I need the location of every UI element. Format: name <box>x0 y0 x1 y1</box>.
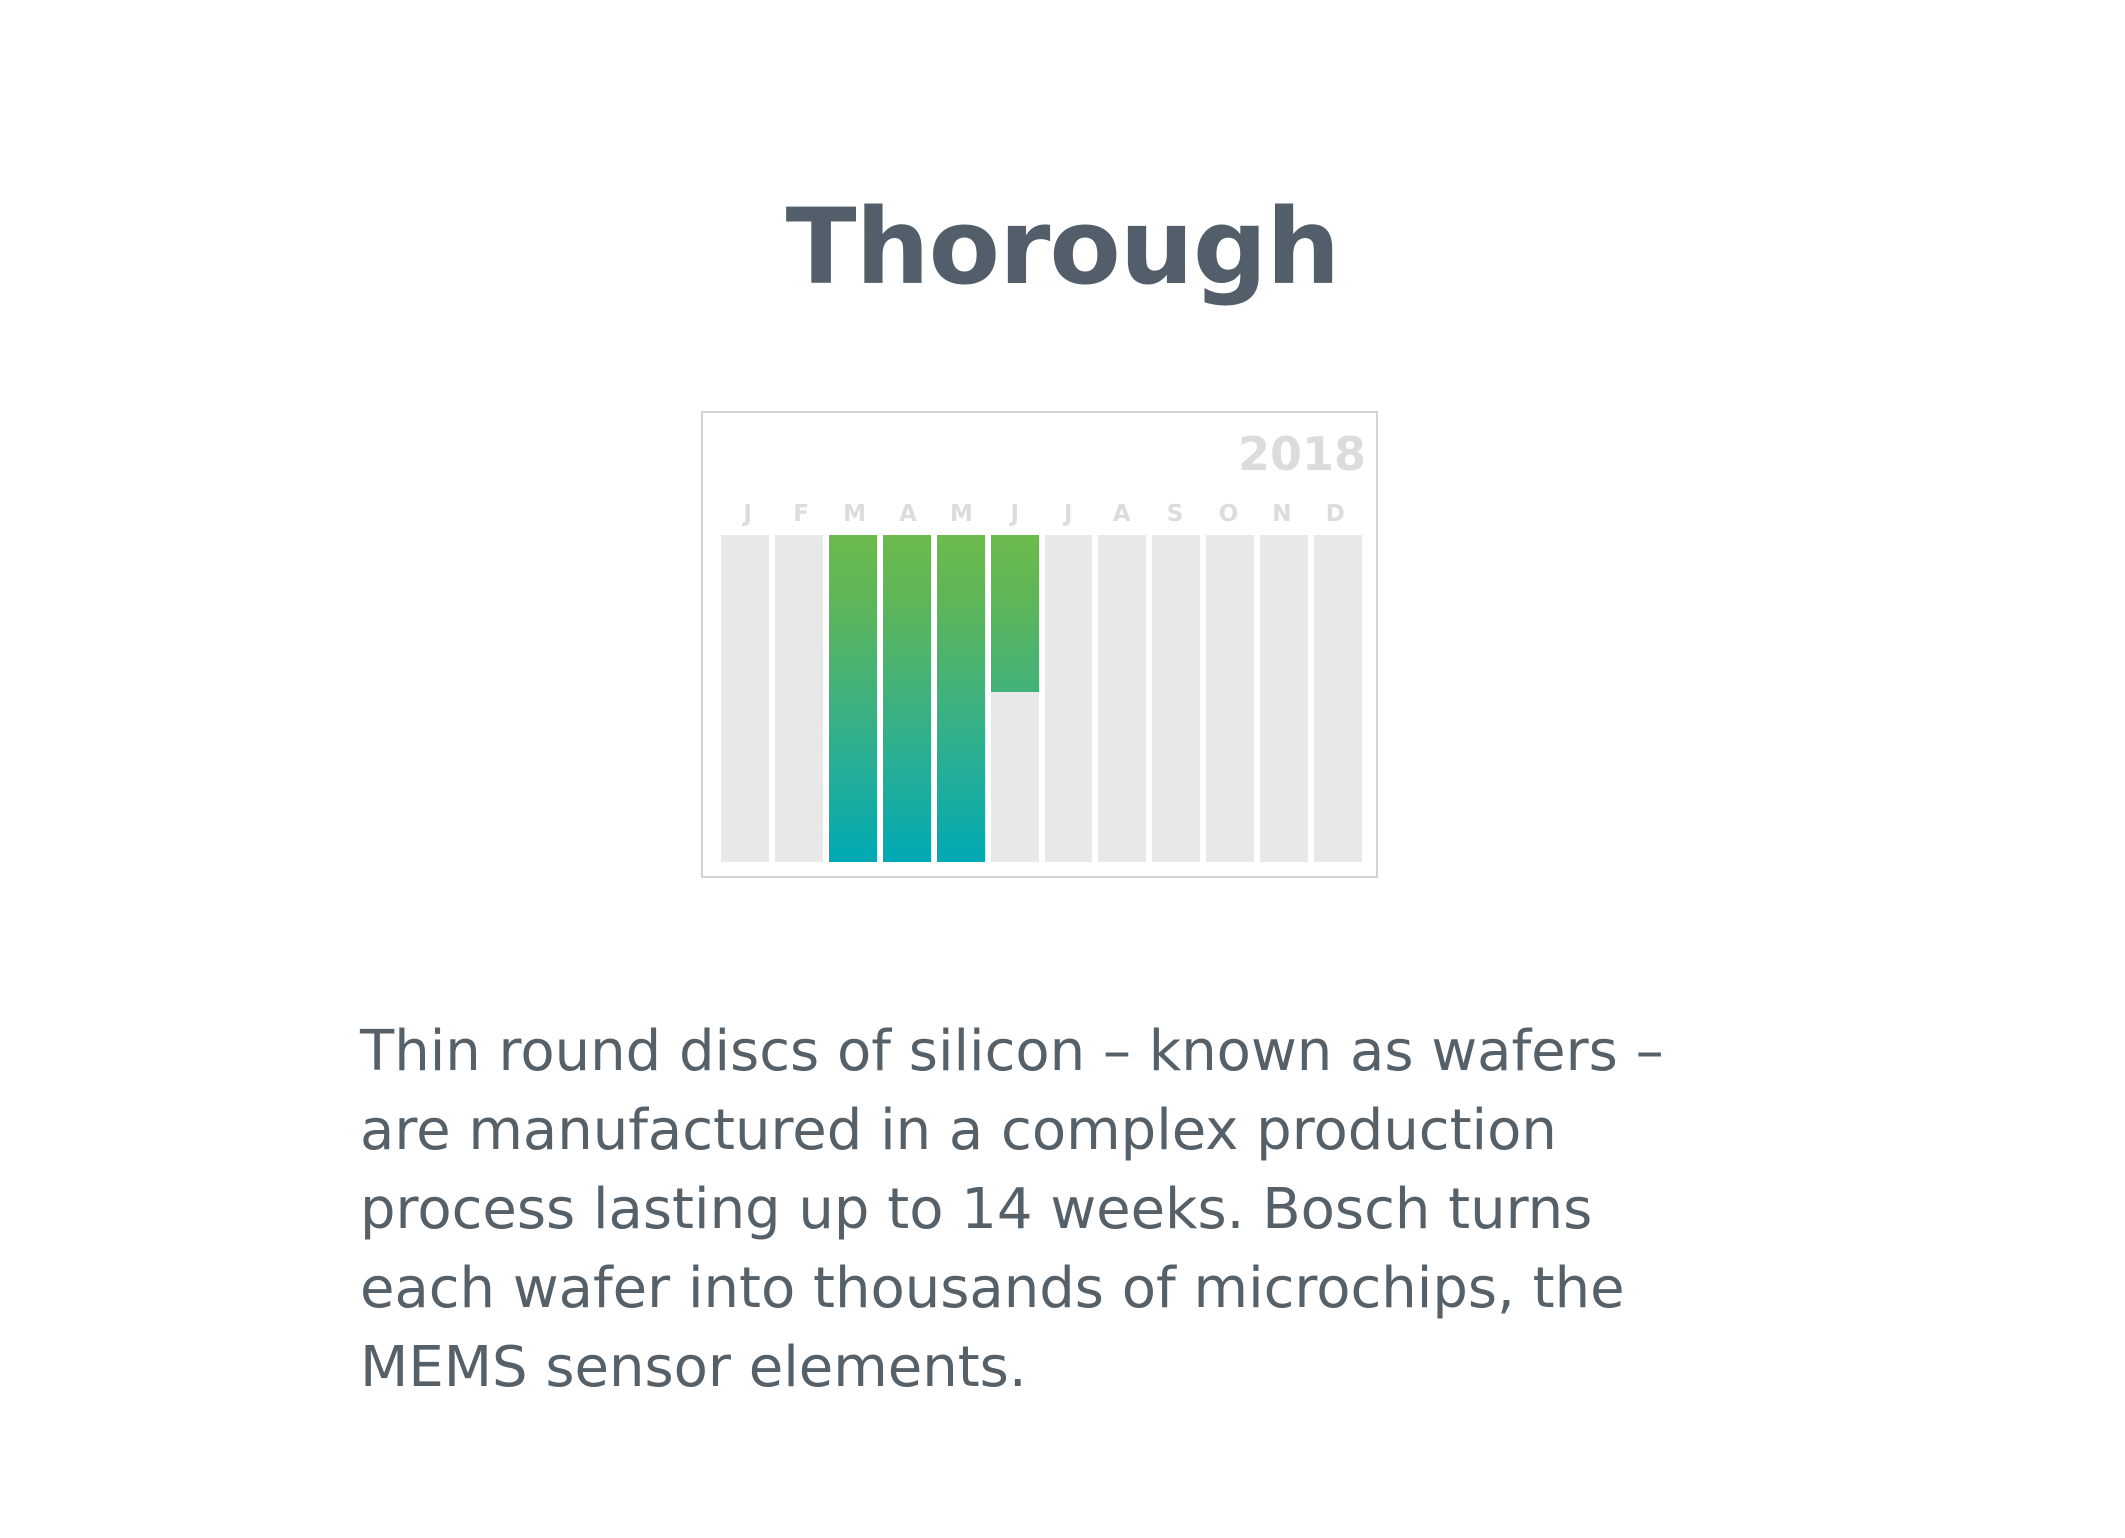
bar-fill <box>829 535 877 862</box>
chart-year-label: 2018 <box>1238 431 1366 477</box>
month-label-aug: A <box>1095 503 1148 526</box>
month-label-may: M <box>935 503 988 526</box>
bar-track <box>1098 535 1146 862</box>
bar-fill <box>991 535 1039 692</box>
bar-track <box>775 535 823 862</box>
month-label-jan: J <box>721 503 774 526</box>
bar-track <box>1152 535 1200 862</box>
month-label-dec: D <box>1309 503 1362 526</box>
month-label-oct: O <box>1202 503 1255 526</box>
body-line: MEMS sensor elements. <box>360 1328 1860 1407</box>
bar-track <box>1206 535 1254 862</box>
bar-track <box>721 535 769 862</box>
month-label-jul: J <box>1042 503 1095 526</box>
bar-fill <box>937 535 985 862</box>
bar-track <box>1260 535 1308 862</box>
month-label-apr: A <box>881 503 934 526</box>
body-line: each wafer into thousands of microchips,… <box>360 1249 1860 1328</box>
body-line: process lasting up to 14 weeks. Bosch tu… <box>360 1170 1860 1249</box>
calendar-bar-chart: 2018 J F M A M J J A S O N D <box>701 411 1378 878</box>
month-label-sep: S <box>1148 503 1201 526</box>
bar-track <box>829 535 877 862</box>
bar-row <box>721 535 1362 862</box>
body-line: Thin round discs of silicon – known as w… <box>360 1012 1860 1091</box>
month-label-nov: N <box>1255 503 1308 526</box>
month-label-jun: J <box>988 503 1041 526</box>
bar-track <box>991 535 1039 862</box>
bar-fill <box>883 535 931 862</box>
page-title: Thorough <box>0 190 2125 304</box>
bar-track <box>883 535 931 862</box>
bar-track <box>937 535 985 862</box>
month-label-row: J F M A M J J A S O N D <box>721 497 1362 531</box>
body-line: are manufactured in a complex production <box>360 1091 1860 1170</box>
month-label-feb: F <box>774 503 827 526</box>
bar-track <box>1314 535 1362 862</box>
month-label-mar: M <box>828 503 881 526</box>
body-paragraph: Thin round discs of silicon – known as w… <box>360 1012 1860 1407</box>
bar-track <box>1045 535 1093 862</box>
